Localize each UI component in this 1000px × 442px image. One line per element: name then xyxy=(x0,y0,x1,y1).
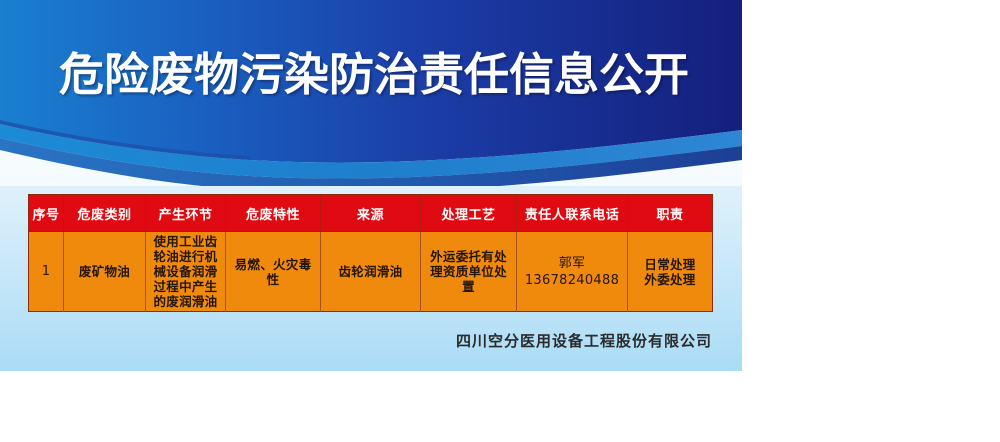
column-header-hazard: 危废特性 xyxy=(226,195,321,232)
hazardous-waste-table: 序号 危废类别 产生环节 危废特性 来源 处理工艺 责任人联系电话 职责 1 废… xyxy=(28,194,713,312)
column-header-contact: 责任人联系电话 xyxy=(517,195,628,232)
banner-header: 危险废物污染防治责任信息公开 xyxy=(0,0,742,186)
cell-generation: 使用工业齿轮油进行机械设备润滑过程中产生的废润滑油 xyxy=(146,232,226,312)
column-header-source: 来源 xyxy=(321,195,421,232)
cell-category: 废矿物油 xyxy=(64,232,146,312)
cell-seq: 1 xyxy=(29,232,64,312)
cell-hazard: 易燃、火灾毒性 xyxy=(226,232,321,312)
column-header-seq: 序号 xyxy=(29,195,64,232)
column-header-responsibility: 职责 xyxy=(628,195,713,232)
poster-canvas: 危险废物污染防治责任信息公开 序号 危废类别 产生环节 危废特性 来源 处理工艺… xyxy=(0,0,742,371)
column-header-treatment: 处理工艺 xyxy=(421,195,517,232)
company-name-footer: 四川空分医用设备工程股份有限公司 xyxy=(0,330,712,351)
page-title: 危险废物污染防治责任信息公开 xyxy=(0,49,742,101)
column-header-generation: 产生环节 xyxy=(146,195,226,232)
cell-source: 齿轮润滑油 xyxy=(321,232,421,312)
cell-responsibility: 日常处理外委处理 xyxy=(628,232,713,312)
table-header-row: 序号 危废类别 产生环节 危废特性 来源 处理工艺 责任人联系电话 职责 xyxy=(29,195,713,232)
cell-treatment: 外运委托有处理资质单位处置 xyxy=(421,232,517,312)
cell-contact: 郭军13678240488 xyxy=(517,232,628,312)
column-header-category: 危废类别 xyxy=(64,195,146,232)
table-row: 1 废矿物油 使用工业齿轮油进行机械设备润滑过程中产生的废润滑油 易燃、火灾毒性… xyxy=(29,232,713,312)
